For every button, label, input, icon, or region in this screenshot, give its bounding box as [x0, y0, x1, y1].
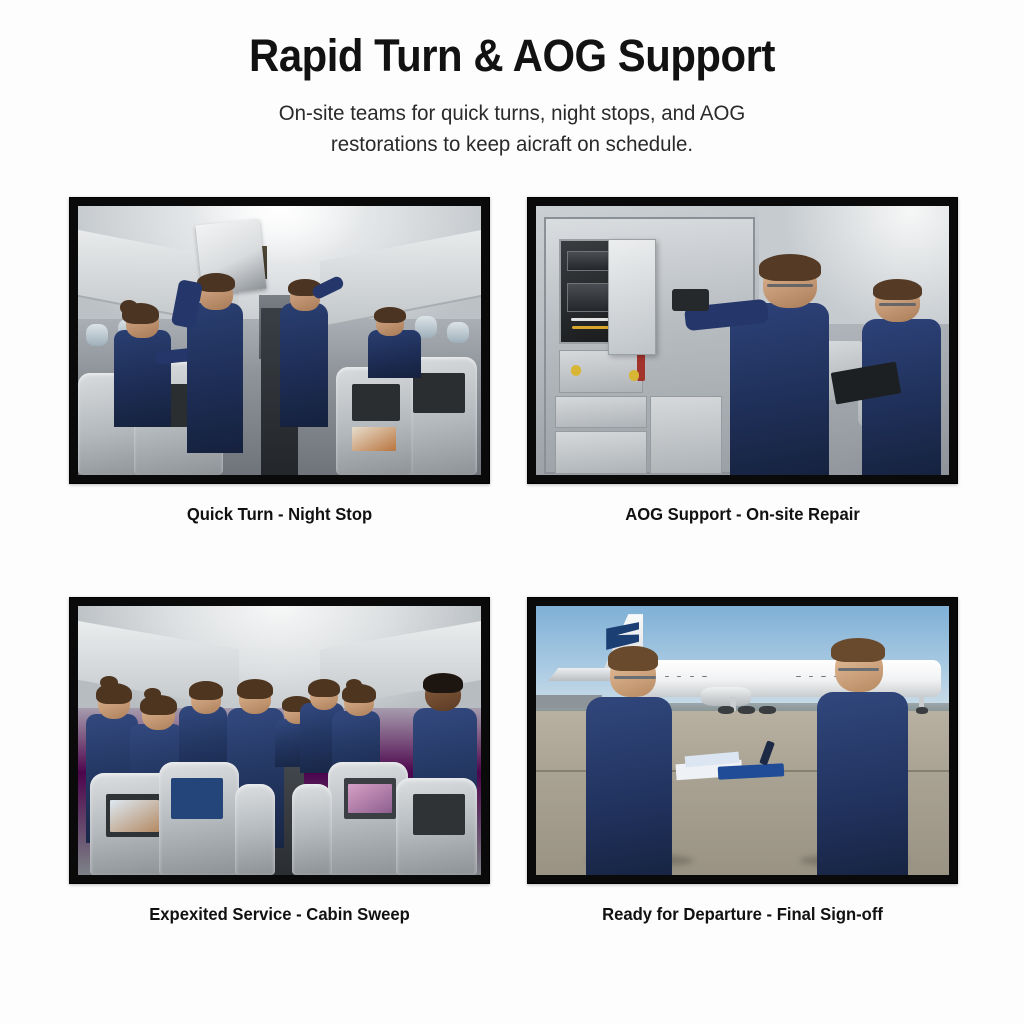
technician-hair [873, 279, 923, 301]
landing-gear-wheel [718, 706, 735, 714]
equipment-panel [555, 396, 648, 428]
aircraft-engine [701, 687, 751, 706]
seatback-screen [171, 778, 223, 818]
yellow-latch [571, 365, 581, 375]
seatback-screen [413, 794, 465, 834]
poster-header: Rapid Turn & AOG Support On-site teams f… [0, 0, 1024, 160]
avionics-rack [544, 217, 755, 474]
photo-ready-for-departure-final-signoff [536, 606, 949, 875]
photo-caption: Ready for Departure - Final Sign-off [538, 904, 947, 925]
photo-frame [527, 197, 958, 484]
safety-glasses [767, 284, 812, 287]
seatback-screen [352, 384, 400, 422]
crew-hair [423, 673, 463, 693]
gallery-item-expexited-service-cabin-sweep[interactable]: Expexited Service - Cabin Sweep [69, 597, 490, 925]
seat-pocket-magazine [348, 784, 392, 814]
crew-hair [308, 679, 340, 698]
safety-glasses [614, 676, 655, 679]
gallery-item-quick-turn-night-stop[interactable]: Quick Turn - Night Stop [69, 197, 490, 525]
technician-hair [374, 307, 406, 323]
subtitle-line-1: On-site teams for quick turns, night sto… [218, 98, 807, 129]
safety-glasses [838, 668, 879, 671]
cabin-window [447, 322, 469, 344]
page-title: Rapid Turn & AOG Support [36, 0, 988, 84]
gallery-item-aog-support-onsite-repair[interactable]: AOG Support - On-site Repair [527, 197, 958, 525]
landing-gear-wheel [759, 706, 776, 714]
engineer-hair [608, 646, 658, 670]
crew-hair-bun [144, 688, 160, 700]
seatback-screen [413, 373, 465, 413]
engineer-hair [831, 638, 885, 662]
photo-frame [69, 597, 490, 884]
subtitle-line-2: restorations to keep aicraft on schedule… [218, 129, 807, 160]
rack-access-door [608, 239, 655, 355]
yellow-latch [629, 370, 639, 380]
technician-hair [759, 254, 821, 281]
photo-caption: Quick Turn - Night Stop [80, 504, 480, 525]
galley-cart-door [555, 431, 648, 473]
photo-caption: Expexited Service - Cabin Sweep [80, 904, 480, 925]
crew-hair-bun [346, 679, 362, 691]
photo-caption: AOG Support - On-site Repair [538, 504, 947, 525]
technician-body [280, 303, 328, 427]
seat-pocket-magazine [110, 800, 158, 832]
technician-hair [197, 273, 235, 292]
crew-hair [237, 679, 273, 699]
photo-expexited-service-cabin-sweep [78, 606, 481, 875]
nose-gear-wheel [916, 707, 928, 714]
landing-gear-wheel [738, 706, 755, 714]
hand-tool [672, 289, 709, 311]
photo-frame [69, 197, 490, 484]
cabin-window [86, 324, 108, 346]
crew-hair [189, 681, 223, 700]
engineer-body [586, 697, 673, 875]
gallery-item-ready-for-departure-final-signoff[interactable]: Ready for Departure - Final Sign-off [527, 597, 958, 925]
technician-body [730, 303, 829, 475]
poster-page: Rapid Turn & AOG Support On-site teams f… [0, 0, 1024, 1024]
galley-cart-door [650, 396, 722, 474]
photo-aog-support-onsite-repair [536, 206, 949, 475]
photo-frame [527, 597, 958, 884]
engineer-body [817, 692, 908, 875]
technician-body [187, 303, 243, 454]
technician-body [114, 330, 170, 427]
passenger-seat [235, 784, 275, 875]
safety-glasses [879, 303, 916, 306]
photo-quick-turn-night-stop [78, 206, 481, 475]
technician-body [368, 330, 420, 378]
page-subtitle: On-site teams for quick turns, night sto… [218, 84, 807, 160]
passenger-seat [292, 784, 332, 875]
seat-pocket-magazine [352, 427, 396, 451]
